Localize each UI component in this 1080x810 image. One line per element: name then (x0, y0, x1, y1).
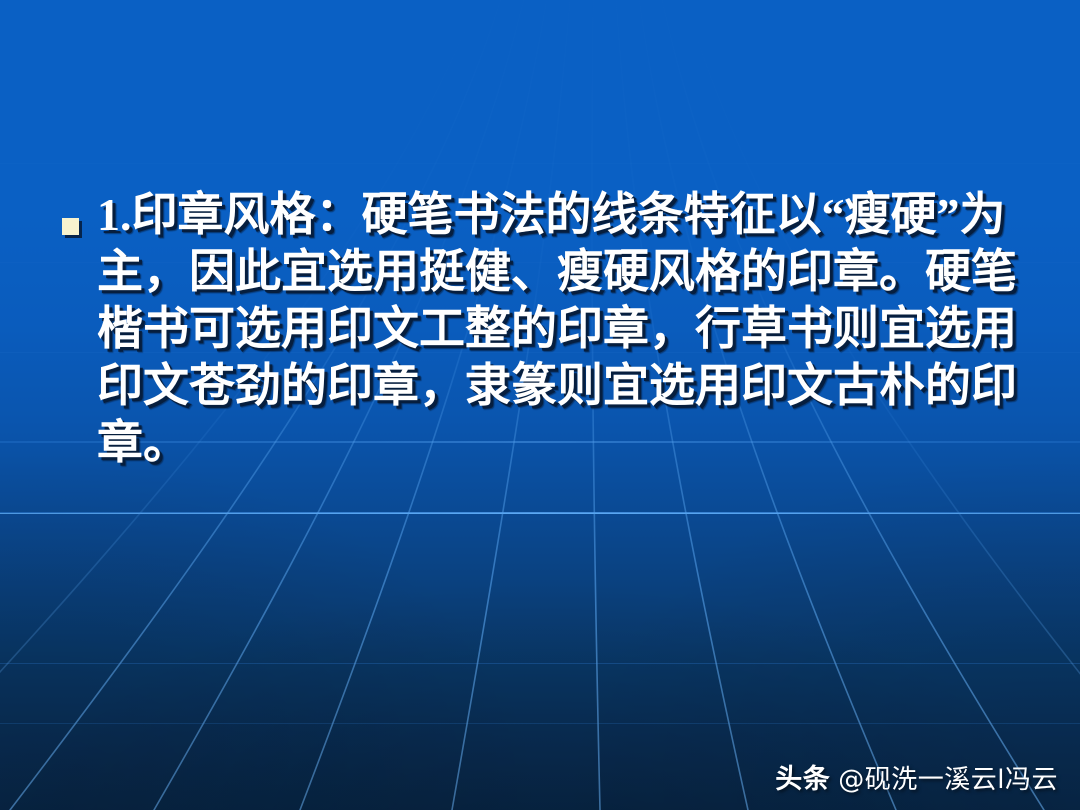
slide-body: 1.印章风格：硬笔书法的线条特征以“瘦硬”为主，因此宜选用挺健、瘦硬风格的印章。… (0, 186, 1080, 471)
bullet-list-item: 1.印章风格：硬笔书法的线条特征以“瘦硬”为主，因此宜选用挺健、瘦硬风格的印章。… (62, 186, 1052, 471)
watermark: 头条 @砚洗一溪云l冯云 (775, 757, 1058, 796)
presentation-slide: 1.印章风格：硬笔书法的线条特征以“瘦硬”为主，因此宜选用挺健、瘦硬风格的印章。… (0, 0, 1080, 810)
watermark-handle-label: @砚洗一溪云l冯云 (838, 759, 1058, 796)
watermark-brand-label: 头条 (775, 757, 830, 796)
square-bullet-icon (62, 218, 79, 235)
bullet-paragraph-text: 1.印章风格：硬笔书法的线条特征以“瘦硬”为主，因此宜选用挺健、瘦硬风格的印章。… (97, 186, 1052, 471)
